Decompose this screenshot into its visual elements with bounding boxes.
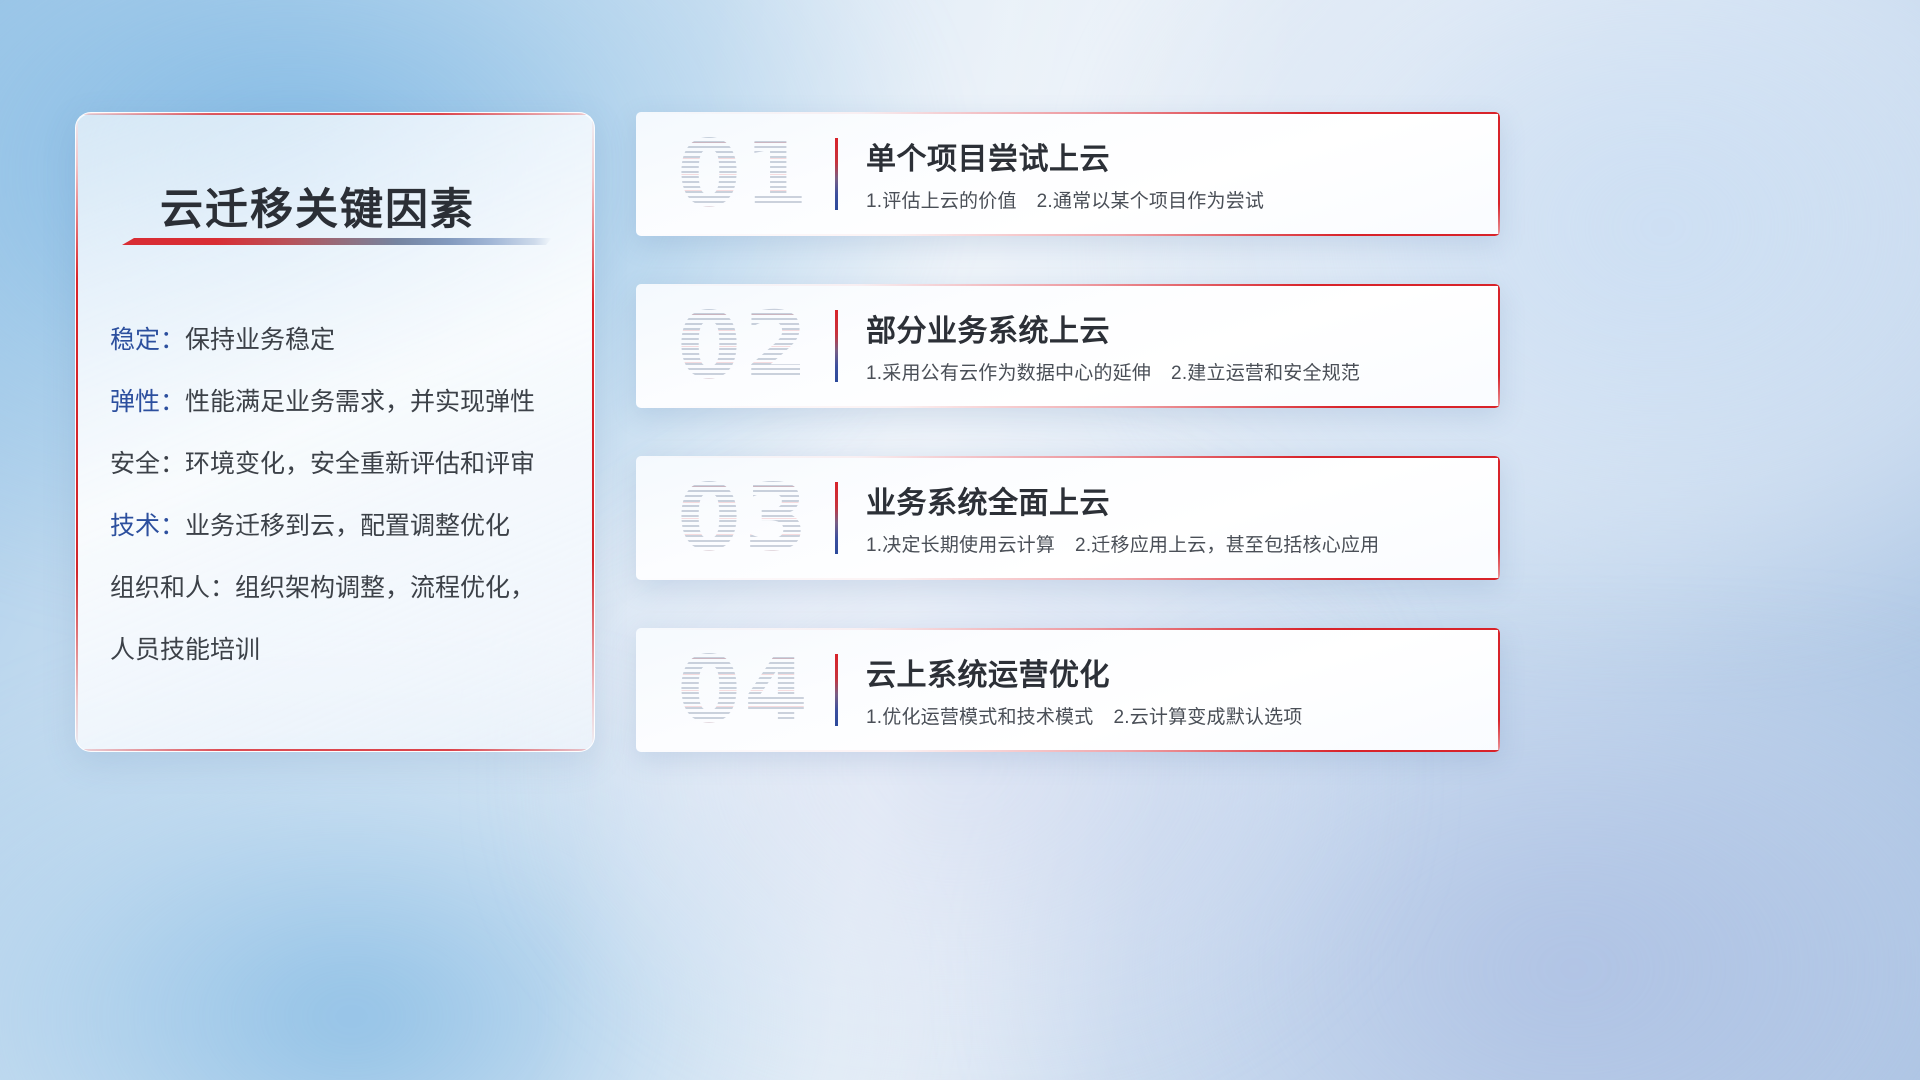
stage-point-1: 1.评估上云的价值 <box>866 191 1017 212</box>
list-item: 稳定：保持业务稳定 <box>110 309 568 371</box>
stage-point-1: 1.决定长期使用云计算 <box>866 535 1055 556</box>
stage-point-2: 2.通常以某个项目作为尝试 <box>1037 191 1264 212</box>
card-bottom-edge <box>636 578 1500 580</box>
stage-title: 单个项目尝试上云 <box>866 134 1110 178</box>
factor-label: 弹性： <box>110 388 185 416</box>
slide-stage: 云迁移关键因素 稳定：保持业务稳定 弹性：性能满足业务需求，并实现弹性 安全：环… <box>0 0 1920 1080</box>
card-right-edge <box>1498 112 1500 236</box>
stage-description: 1.采用公有云作为数据中心的延伸2.建立运营和安全规范 <box>866 358 1360 385</box>
stage-title: 部分业务系统上云 <box>866 306 1110 350</box>
stage-title: 云上系统运营优化 <box>866 650 1110 694</box>
stage-card-01[interactable]: 01 01 单个项目尝试上云 1.评估上云的价值2.通常以某个项目作为尝试 <box>636 112 1500 236</box>
stage-point-1: 1.采用公有云作为数据中心的延伸 <box>866 363 1151 384</box>
stage-description: 1.决定长期使用云计算2.迁移应用上云，甚至包括核心应用 <box>866 530 1379 557</box>
stage-number-glyph-tint: 03 <box>664 470 824 566</box>
stage-number-glyph-tint: 04 <box>664 642 824 738</box>
card-bottom-edge <box>636 234 1500 236</box>
card-divider-bar <box>835 138 838 210</box>
stage-point-2: 2.迁移应用上云，甚至包括核心应用 <box>1075 535 1379 556</box>
stage-number-01: 01 01 <box>664 126 824 222</box>
title-underline-gradient <box>122 238 552 245</box>
stage-number-03: 03 03 <box>664 470 824 566</box>
stage-description: 1.评估上云的价值2.通常以某个项目作为尝试 <box>866 186 1264 213</box>
stage-number-glyph-tint: 01 <box>664 126 824 222</box>
factor-value: 环境变化，安全重新评估和评审 <box>185 450 535 478</box>
stage-card-04[interactable]: 04 04 云上系统运营优化 1.优化运营模式和技术模式2.云计算变成默认选项 <box>636 628 1500 752</box>
factor-label: 安全： <box>110 450 185 478</box>
list-item: 技术：业务迁移到云，配置调整优化 <box>110 495 568 557</box>
page-title: 云迁移关键因素 <box>160 175 475 237</box>
factor-value: 人员技能培训 <box>110 636 260 664</box>
stage-point-1: 1.优化运营模式和技术模式 <box>866 707 1093 728</box>
stage-description: 1.优化运营模式和技术模式2.云计算变成默认选项 <box>866 702 1303 729</box>
card-right-edge <box>1498 456 1500 580</box>
list-item: 弹性：性能满足业务需求，并实现弹性 <box>110 371 568 433</box>
stage-card-03[interactable]: 03 03 业务系统全面上云 1.决定长期使用云计算2.迁移应用上云，甚至包括核… <box>636 456 1500 580</box>
list-item-continuation: 人员技能培训 <box>110 619 568 681</box>
factor-value: 业务迁移到云，配置调整优化 <box>185 512 510 540</box>
card-top-edge <box>636 284 1500 286</box>
factor-value: 保持业务稳定 <box>185 326 335 354</box>
stage-point-2: 2.云计算变成默认选项 <box>1113 707 1302 728</box>
factor-value: 性能满足业务需求，并实现弹性 <box>185 388 535 416</box>
list-item: 组织和人：组织架构调整，流程优化， <box>110 557 568 619</box>
stage-card-02[interactable]: 02 02 部分业务系统上云 1.采用公有云作为数据中心的延伸2.建立运营和安全… <box>636 284 1500 408</box>
card-divider-bar <box>835 482 838 554</box>
stage-point-2: 2.建立运营和安全规范 <box>1171 363 1360 384</box>
panel-top-edge <box>76 113 594 115</box>
key-factors-panel: 云迁移关键因素 稳定：保持业务稳定 弹性：性能满足业务需求，并实现弹性 安全：环… <box>75 112 595 752</box>
card-right-edge <box>1498 628 1500 752</box>
card-divider-bar <box>835 654 838 726</box>
card-bottom-edge <box>636 406 1500 408</box>
factor-value: 组织架构调整，流程优化， <box>235 574 535 602</box>
stage-number-02: 02 02 <box>664 298 824 394</box>
stage-number-glyph-tint: 02 <box>664 298 824 394</box>
card-bottom-edge <box>636 750 1500 752</box>
panel-bottom-edge <box>76 749 594 751</box>
card-top-edge <box>636 456 1500 458</box>
stage-title: 业务系统全面上云 <box>866 478 1110 522</box>
factor-label: 组织和人： <box>110 574 235 602</box>
factor-label: 稳定： <box>110 326 185 354</box>
card-divider-bar <box>835 310 838 382</box>
card-top-edge <box>636 112 1500 114</box>
card-right-edge <box>1498 284 1500 408</box>
list-item: 安全：环境变化，安全重新评估和评审 <box>110 433 568 495</box>
stage-number-04: 04 04 <box>664 642 824 738</box>
card-top-edge <box>636 628 1500 630</box>
factor-label: 技术： <box>110 512 185 540</box>
key-factors-list: 稳定：保持业务稳定 弹性：性能满足业务需求，并实现弹性 安全：环境变化，安全重新… <box>110 309 568 681</box>
